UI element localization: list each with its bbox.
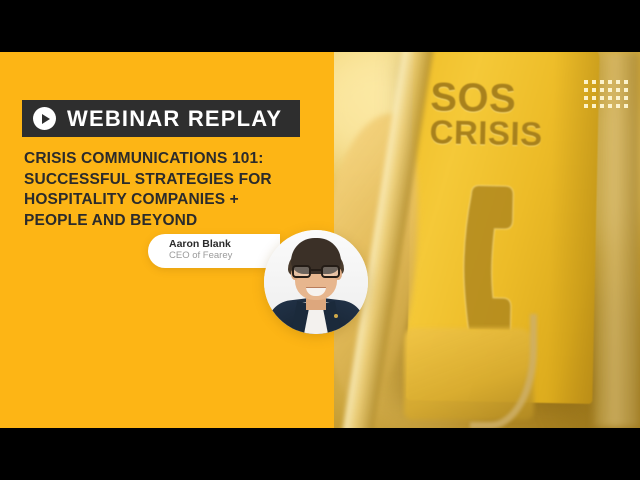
thumbnail-content: SOS CRISIS	[0, 52, 640, 428]
sos-crisis-sign: SOS CRISIS	[429, 78, 600, 152]
dot-grid-decoration	[584, 80, 628, 108]
title-line-4: PEOPLE AND BEYOND	[24, 211, 316, 232]
grid-dot	[616, 80, 620, 84]
title-line-3: HOSPITALITY COMPANIES +	[24, 190, 316, 211]
grid-dot	[608, 96, 612, 100]
speaker-name-badge: Aaron Blank CEO of Fearey	[148, 234, 280, 268]
grid-dot	[584, 96, 588, 100]
webinar-title: CRISIS COMMUNICATIONS 101: SUCCESSFUL ST…	[24, 149, 316, 231]
title-line-2: SUCCESSFUL STRATEGIES FOR	[24, 170, 316, 191]
speaker-role: CEO of Fearey	[169, 250, 246, 261]
grid-dot	[584, 80, 588, 84]
photo-panel: SOS CRISIS	[334, 52, 640, 428]
grid-dot	[600, 80, 604, 84]
avatar	[264, 230, 368, 334]
grid-dot	[592, 104, 596, 108]
grid-dot	[592, 96, 596, 100]
grid-dot	[592, 80, 596, 84]
grid-dot	[624, 88, 628, 92]
avatar-lapel-pin	[334, 314, 338, 318]
grid-dot	[608, 80, 612, 84]
avatar-lens-right	[321, 265, 340, 278]
grid-dot	[600, 104, 604, 108]
wall-strip	[594, 52, 640, 428]
webinar-replay-label: WEBINAR REPLAY	[67, 108, 282, 130]
grid-dot	[616, 88, 620, 92]
title-line-1: CRISIS COMMUNICATIONS 101:	[24, 149, 316, 170]
grid-dot	[624, 96, 628, 100]
telephone-handset-icon	[440, 179, 563, 331]
letterbox-bar-top	[0, 0, 640, 52]
grid-dot	[608, 104, 612, 108]
grid-dot	[600, 88, 604, 92]
avatar-glasses-bridge	[311, 269, 321, 271]
letterbox-bar-bottom	[0, 428, 640, 480]
speaker-name: Aaron Blank	[169, 238, 246, 250]
grid-dot	[584, 88, 588, 92]
grid-dot	[600, 96, 604, 100]
grid-dot	[624, 80, 628, 84]
play-icon	[33, 107, 56, 130]
grid-dot	[592, 88, 596, 92]
webinar-replay-banner[interactable]: WEBINAR REPLAY	[22, 100, 300, 137]
video-thumbnail: SOS CRISIS	[0, 0, 640, 480]
grid-dot	[624, 104, 628, 108]
avatar-glasses	[292, 265, 340, 278]
grid-dot	[584, 104, 588, 108]
play-triangle	[42, 114, 50, 124]
avatar-lens-left	[292, 265, 311, 278]
grid-dot	[616, 104, 620, 108]
grid-dot	[616, 96, 620, 100]
grid-dot	[608, 88, 612, 92]
sos-sign-line-2: CRISIS	[429, 117, 600, 152]
